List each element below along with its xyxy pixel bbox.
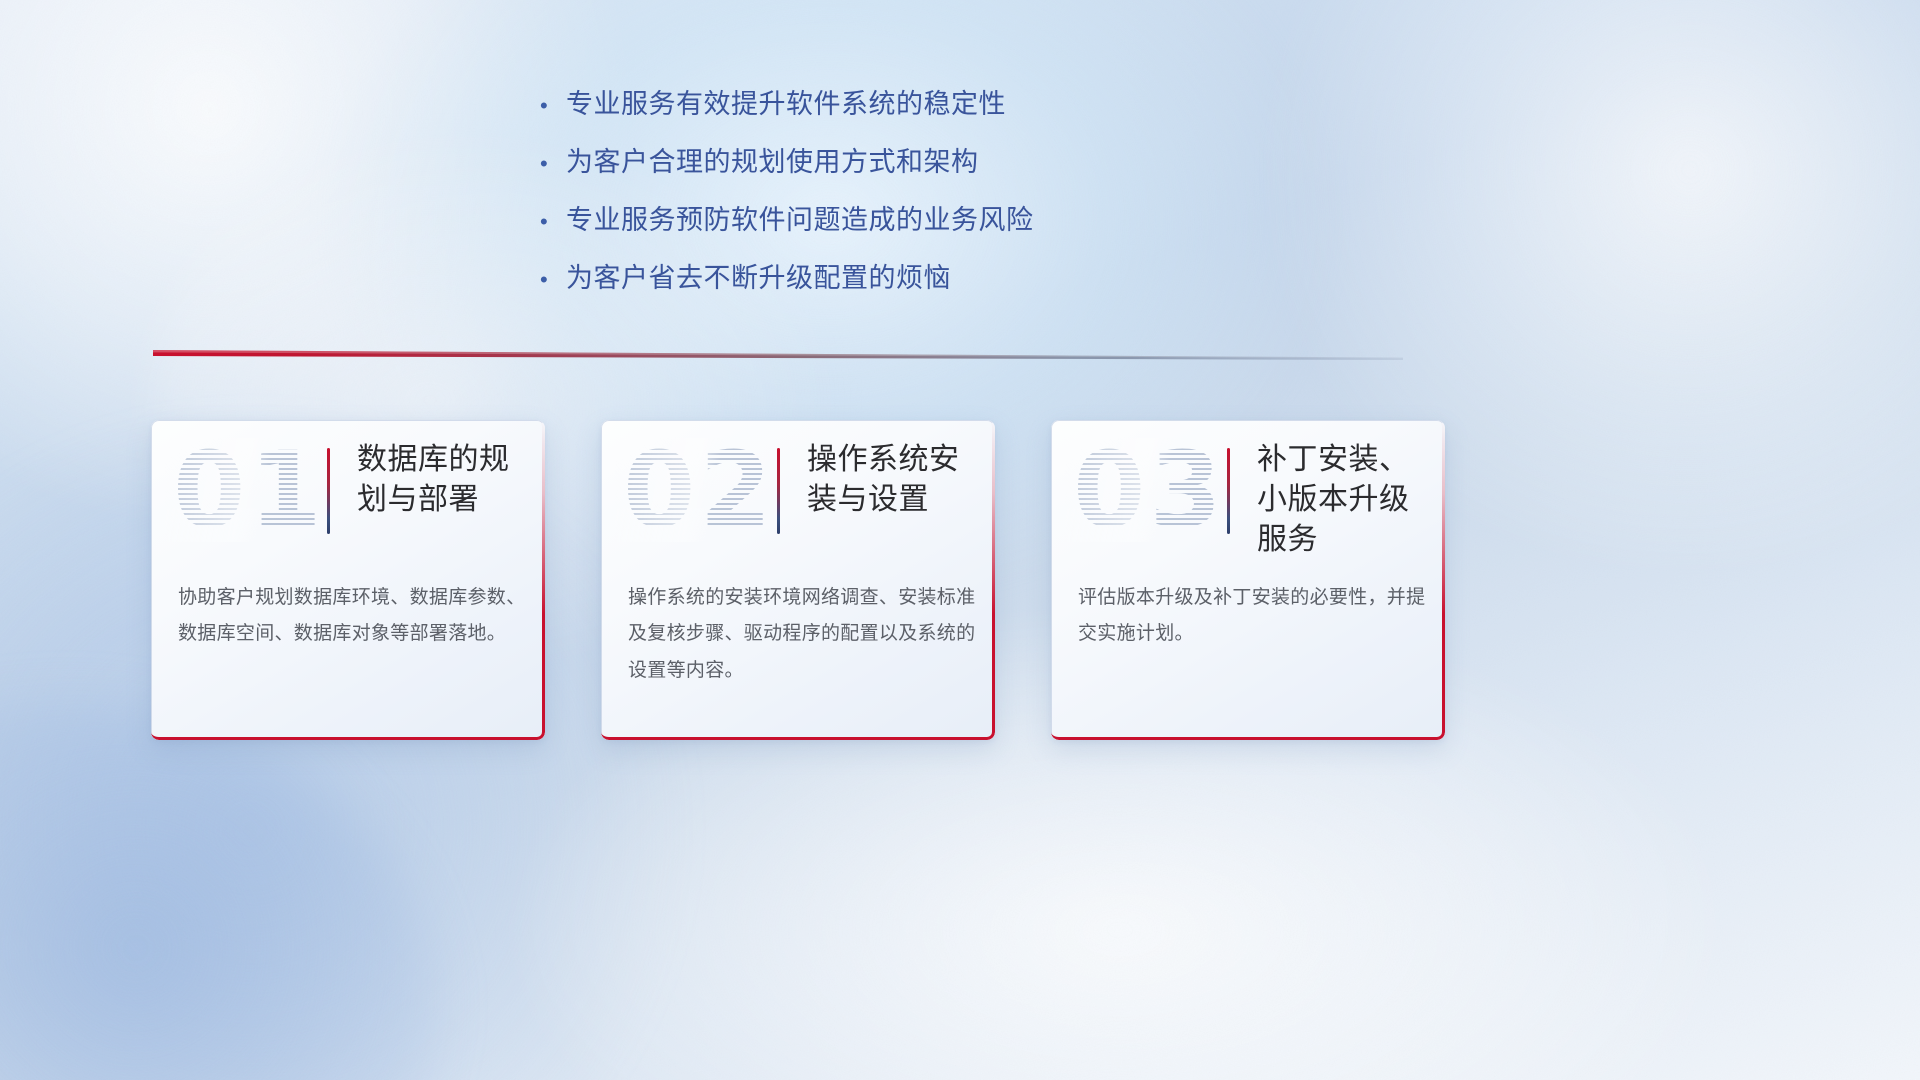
section-divider xyxy=(153,348,1403,366)
card-item[interactable]: 03 补丁安装、小版本升级服务 评估版本升级及补丁安装的必要性，并提交实施计划。 xyxy=(1051,420,1445,740)
divider-line-graphic xyxy=(153,348,1403,366)
card-title: 数据库的规划与部署 xyxy=(357,440,533,520)
bullet-dot-icon: • xyxy=(540,95,566,117)
bullet-dot-icon: • xyxy=(540,153,566,175)
bullet-text: 专业服务有效提升软件系统的稳定性 xyxy=(566,88,1006,121)
card-title-accent-bar xyxy=(1227,448,1230,534)
card-number-watermark: 01 xyxy=(173,438,326,542)
bullet-text: 专业服务预防软件问题造成的业务风险 xyxy=(566,204,1034,237)
card-body-text: 评估版本升级及补丁安装的必要性，并提交实施计划。 xyxy=(1078,580,1426,653)
card-title-accent-bar xyxy=(327,448,330,534)
bullet-list: • 专业服务有效提升软件系统的稳定性 • 为客户合理的规划使用方式和架构 • 专… xyxy=(540,88,1160,320)
bullet-text: 为客户合理的规划使用方式和架构 xyxy=(566,146,979,179)
bullet-item: • 专业服务有效提升软件系统的稳定性 xyxy=(540,88,1160,121)
card-title: 操作系统安装与设置 xyxy=(807,440,983,520)
slide-stage: • 专业服务有效提升软件系统的稳定性 • 为客户合理的规划使用方式和架构 • 专… xyxy=(0,0,1920,1080)
bullet-item: • 专业服务预防软件问题造成的业务风险 xyxy=(540,204,1160,237)
bullet-dot-icon: • xyxy=(540,211,566,233)
card-header: 01 数据库的规划与部署 xyxy=(151,420,545,570)
bullet-dot-icon: • xyxy=(540,269,566,291)
card-header: 02 操作系统安装与设置 xyxy=(601,420,995,570)
card-body-text: 协助客户规划数据库环境、数据库参数、数据库空间、数据库对象等部署落地。 xyxy=(178,580,526,653)
bullet-item: • 为客户省去不断升级配置的烦恼 xyxy=(540,262,1160,295)
card-title-accent-bar xyxy=(777,448,780,534)
bullet-text: 为客户省去不断升级配置的烦恼 xyxy=(566,262,951,295)
card-title: 补丁安装、小版本升级服务 xyxy=(1257,440,1433,561)
bullet-item: • 为客户合理的规划使用方式和架构 xyxy=(540,146,1160,179)
card-body-text: 操作系统的安装环境网络调查、安装标准及复核步骤、驱动程序的配置以及系统的设置等内… xyxy=(628,580,976,689)
card-list: 01 数据库的规划与部署 协助客户规划数据库环境、数据库参数、数据库空间、数据库… xyxy=(151,420,1445,740)
card-number-watermark: 03 xyxy=(1073,438,1226,542)
card-header: 03 补丁安装、小版本升级服务 xyxy=(1051,420,1445,570)
card-item[interactable]: 02 操作系统安装与设置 操作系统的安装环境网络调查、安装标准及复核步骤、驱动程… xyxy=(601,420,995,740)
card-number-watermark: 02 xyxy=(623,438,776,542)
card-item[interactable]: 01 数据库的规划与部署 协助客户规划数据库环境、数据库参数、数据库空间、数据库… xyxy=(151,420,545,740)
